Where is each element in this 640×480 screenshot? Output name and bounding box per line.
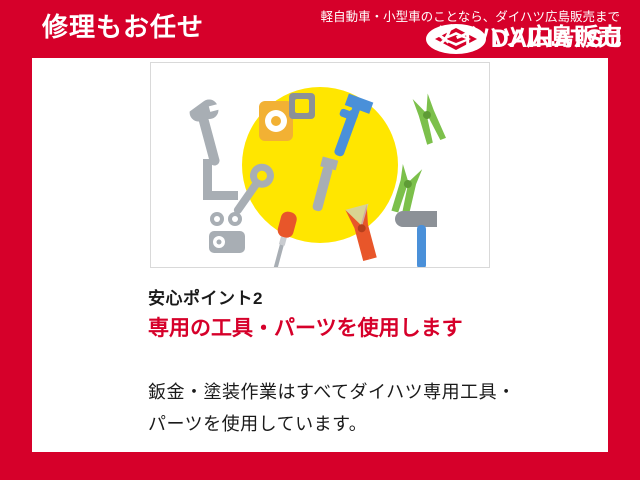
headline: 専用の工具・パーツを使用します	[148, 314, 504, 343]
tools-illustration	[150, 62, 490, 268]
brand-jp-text: ダイハツ広島販売	[430, 24, 622, 51]
frame-bottom-border	[0, 452, 640, 480]
slide-content: 安心ポイント2 専用の工具・パーツを使用します 鈑金・塗装作業はすべてダイハツ専…	[32, 58, 608, 452]
frame-right-border	[608, 0, 640, 480]
page-title: 修理もお任せ	[42, 10, 204, 44]
frame-left-border	[0, 0, 32, 480]
slide-page: 修理もお任せ 軽自動車・小型車のことなら、ダイハツ広島販売まで DAIHATSU…	[0, 0, 640, 480]
point-label: 安心ポイント2	[148, 284, 263, 309]
body-text: 鈑金・塗装作業はすべてダイハツ専用工具・パーツを使用しています。	[148, 376, 516, 440]
